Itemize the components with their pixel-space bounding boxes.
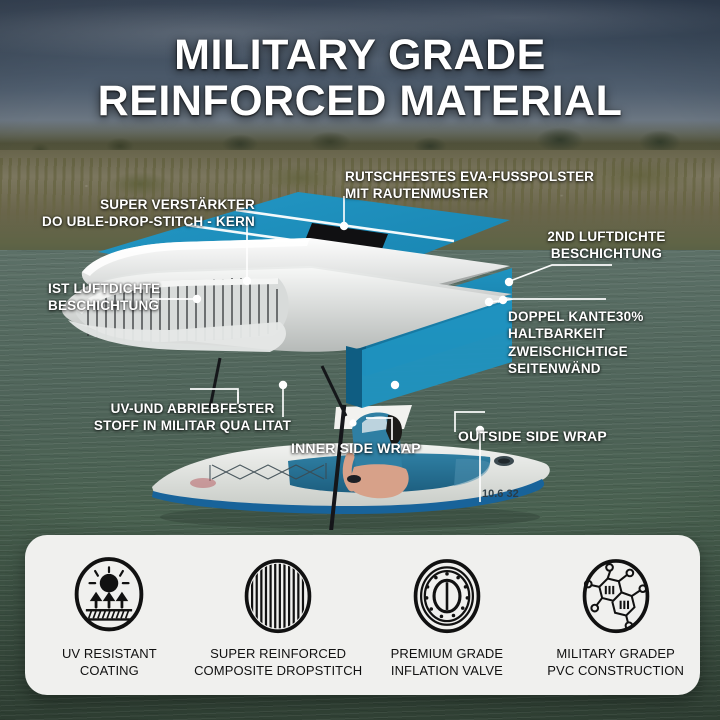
feature-military-grade-pvc[interactable]: MILITARY GRADEP PVC CONSTRUCTION [531, 551, 700, 679]
inflation-valve-icon [410, 557, 484, 637]
page-title: MILITARY GRADE REINFORCED MATERIAL [0, 34, 720, 124]
callout-inner-side-wrap: INNER SIDE WRAP [291, 440, 441, 458]
feature-uv-resistant-coating[interactable]: UV RESISTANT COATING [25, 551, 194, 679]
uv-sun-coating-icon [72, 557, 146, 637]
callout-airtight-coating-2: 2ND LUFTDICHTE BESCHICHTUNG [524, 228, 689, 263]
feature-premium-inflation-valve[interactable]: PREMIUM GRADE INFLATION VALVE [363, 551, 532, 679]
product-infographic: MILITARY GRADE REINFORCED MATERIAL [0, 0, 720, 720]
callout-double-edge-durability: DOPPEL KANTE30% HALTBARKEIT ZWEISCHICHTI… [508, 308, 720, 377]
title-line-1: MILITARY GRADE [0, 34, 720, 78]
feature-card: UV RESISTANT COATING SUPER REINFORCED CO… [25, 535, 700, 695]
callout-outside-side-wrap: OUTSIDE SIDE WRAP [458, 428, 633, 446]
callout-airtight-coating-1: IST LUFTDICHTE BESCHICHTUNG [48, 280, 198, 315]
callout-eva-footpad: RUTSCHFESTES EVA-FUSSPOLSTER MIT RAUTENM… [345, 168, 605, 203]
feature-caption: PREMIUM GRADE INFLATION VALVE [391, 646, 504, 679]
title-line-2: REINFORCED MATERIAL [0, 80, 720, 124]
molecule-pvc-icon [579, 557, 653, 637]
feature-super-reinforced-dropstitch[interactable]: SUPER REINFORCED COMPOSITE DROPSTITCH [194, 551, 363, 679]
board-size-marking: 10.6 32 [482, 488, 519, 500]
feature-caption: UV RESISTANT COATING [62, 646, 157, 679]
callout-uv-abrasion-fabric: UV-UND ABRIEBFESTER STOFF IN MILITAR QUA… [60, 400, 325, 435]
dropstitch-lines-icon [241, 557, 315, 637]
feature-caption: SUPER REINFORCED COMPOSITE DROPSTITCH [194, 646, 362, 679]
feature-caption: MILITARY GRADEP PVC CONSTRUCTION [547, 646, 684, 679]
callout-super-reinforced-core: SUPER VERSTÄRKTER DO UBLE-DROP-STITCH - … [20, 196, 255, 231]
